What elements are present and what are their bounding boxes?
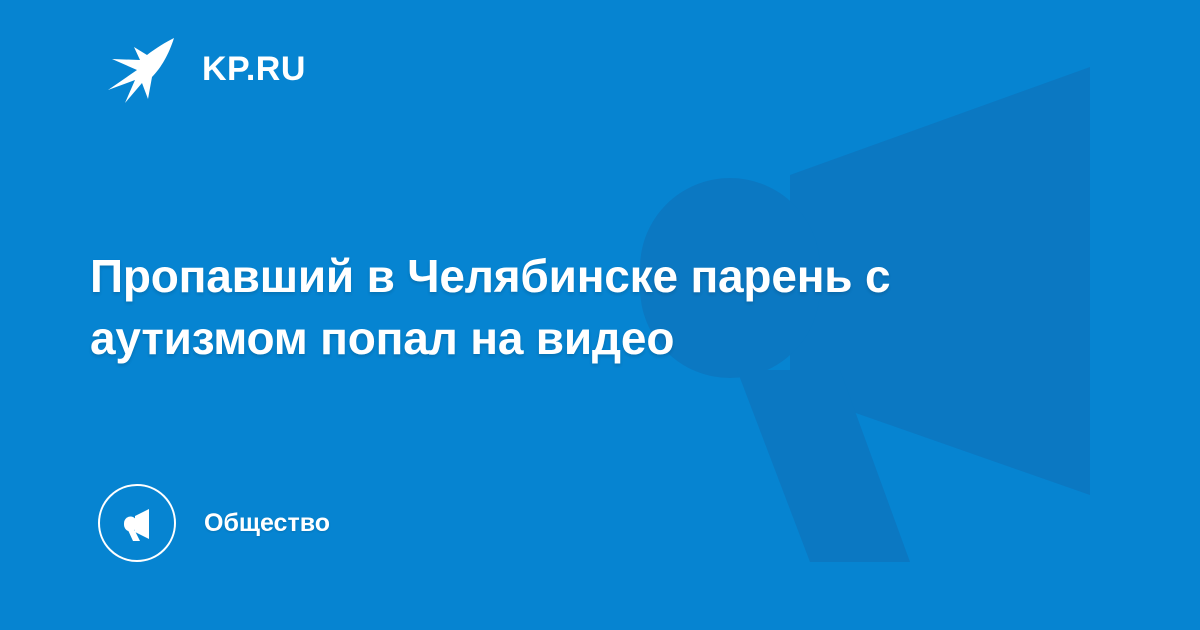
rubric-label: Общество — [204, 511, 330, 536]
brand-lockup[interactable]: KP.RU — [104, 33, 306, 105]
megaphone-icon — [115, 501, 159, 545]
rubric-icon-circle — [98, 484, 176, 562]
page-title: Пропавший в Челябинске парень с аутизмом… — [90, 245, 1090, 369]
share-card: KP.RU Пропавший в Челябинске парень с ау… — [0, 0, 1200, 630]
rubric-badge[interactable]: Общество — [98, 482, 330, 564]
brand-name: KP.RU — [202, 52, 306, 86]
swallow-bird-icon — [104, 33, 178, 105]
